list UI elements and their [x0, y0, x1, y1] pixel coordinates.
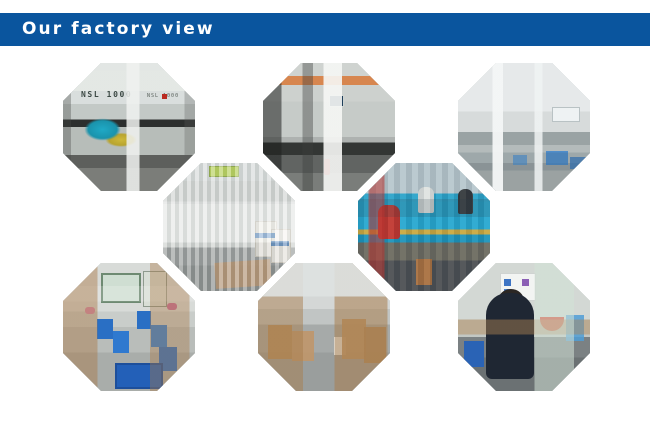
blue-stool-icon — [151, 325, 167, 347]
blue-stool-icon — [137, 311, 151, 329]
fire-extinguisher-icon — [324, 159, 330, 175]
white-box-icon — [334, 337, 346, 355]
blue-tray-icon — [566, 315, 584, 341]
photo-image-printing-press-nsl-1000: NSL 1000 NSL 1000 — [63, 63, 195, 191]
room-door-icon — [143, 271, 167, 307]
blue-bin-icon — [464, 341, 484, 367]
worker-figure-icon — [458, 189, 473, 214]
room-window-icon — [101, 273, 141, 303]
photo-image-workroom-stools — [63, 263, 195, 391]
carton-box-icon — [271, 229, 291, 263]
photo-image-assembly-line — [358, 163, 490, 291]
wall-notice-icon — [500, 273, 536, 301]
machine-label-secondary: NSL 1000 — [147, 93, 179, 99]
worker-figure-icon — [418, 187, 434, 213]
photo-tile-printing-press-second[interactable] — [263, 63, 395, 191]
notice-marker-icon — [504, 279, 511, 286]
blue-stool-icon — [97, 319, 113, 339]
red-basin-icon — [540, 317, 564, 331]
photo-image-factory-hall — [458, 63, 590, 191]
photo-image-warehouse-pallets — [163, 163, 295, 291]
seated-worker-icon — [486, 293, 534, 379]
blue-crate-icon — [570, 157, 586, 169]
hall-window-icon — [552, 107, 580, 122]
photo-image-printing-press-second — [263, 63, 395, 191]
photo-tile-assembly-line[interactable] — [358, 163, 490, 291]
machine-label-nsl-1000: NSL 1000 — [81, 90, 132, 99]
carton-label-stripe — [255, 233, 275, 238]
worker-head-icon — [498, 289, 524, 313]
flat-carton-stack-icon — [214, 259, 272, 289]
photo-tile-workroom-stools[interactable] — [63, 263, 195, 391]
factory-photo-gallery: NSL 1000 NSL 1000 — [0, 0, 650, 425]
blue-stool-icon — [159, 347, 177, 371]
notice-marker-icon — [522, 279, 529, 286]
carton-stack-icon — [292, 331, 314, 361]
blue-crate-icon — [513, 155, 527, 165]
pink-basin-icon — [85, 307, 95, 314]
notice-marker-icon — [504, 289, 511, 295]
photo-tile-printing-press-nsl-1000[interactable]: NSL 1000 NSL 1000 — [63, 63, 195, 191]
red-indicator-icon — [162, 94, 167, 99]
carton-stack-icon — [364, 327, 386, 363]
carton-label-stripe — [271, 241, 289, 246]
photo-tile-factory-hall[interactable] — [458, 63, 590, 191]
photo-tile-carton-warehouse[interactable] — [258, 263, 390, 391]
carton-box-icon — [255, 221, 277, 257]
photo-image-quality-inspection-desk — [458, 263, 590, 391]
control-panel-icon — [329, 95, 344, 107]
wooden-stool-icon — [416, 259, 432, 285]
pink-basin-icon — [167, 303, 177, 310]
blue-stool-icon — [113, 331, 129, 353]
photo-image-carton-warehouse — [258, 263, 390, 391]
blue-crate-icon — [115, 363, 163, 389]
photo-tile-quality-inspection-desk[interactable] — [458, 263, 590, 391]
blue-crate-icon — [546, 151, 568, 165]
warehouse-sign-icon — [209, 166, 239, 177]
carton-stack-icon — [268, 325, 292, 359]
carton-stack-icon — [342, 319, 366, 359]
photo-tile-warehouse-pallets[interactable] — [163, 163, 295, 291]
worker-figure-icon — [378, 205, 400, 239]
factory-view-page: Our factory view NSL 1000 NSL 1000 — [0, 0, 650, 425]
